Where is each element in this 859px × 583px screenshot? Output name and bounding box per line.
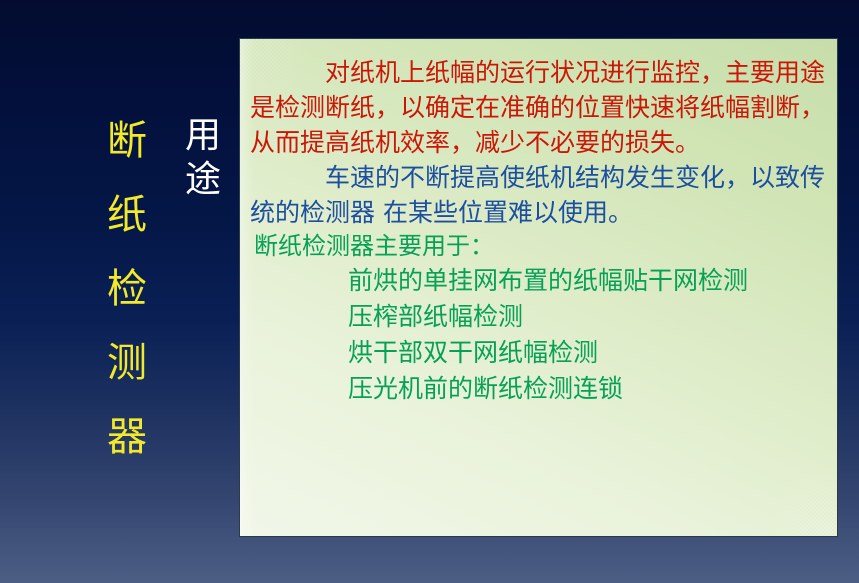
list-item: 烘干部双干网纸幅检测 bbox=[250, 335, 831, 371]
vertical-title-char-5: 器 bbox=[107, 400, 147, 474]
vertical-subtitle-char-2: 途 bbox=[185, 158, 221, 202]
list-item: 压榨部纸幅检测 bbox=[250, 299, 831, 335]
vertical-title-char-4: 测 bbox=[107, 326, 147, 400]
vertical-subtitle: 用 途 bbox=[174, 114, 232, 202]
vertical-subtitle-char-1: 用 bbox=[185, 114, 221, 158]
vertical-title: 断 纸 检 测 器 bbox=[96, 104, 158, 474]
list-item: 前烘的单挂网布置的纸幅贴干网检测 bbox=[250, 263, 831, 299]
content-panel: 对纸机上纸幅的运行状况进行监控，主要用途是检测断纸，以确定在准确的位置快速将纸幅… bbox=[239, 38, 838, 537]
content-text-block: 对纸机上纸幅的运行状况进行监控，主要用途是检测断纸，以确定在准确的位置快速将纸幅… bbox=[240, 39, 837, 407]
vertical-title-char-3: 检 bbox=[107, 252, 147, 326]
list-item: 压光机前的断纸检测连锁 bbox=[250, 371, 831, 407]
green-item-list: 前烘的单挂网布置的纸幅贴干网检测 压榨部纸幅检测 烘干部双干网纸幅检测 压光机前… bbox=[250, 263, 831, 407]
slide-canvas: 断 纸 检 测 器 用 途 对纸机上纸幅的运行状况进行监控，主要用途是检测断纸，… bbox=[0, 0, 859, 583]
vertical-title-char-1: 断 bbox=[107, 104, 147, 178]
paragraph-blue: 车速的不断提高使纸机结构发生变化，以致传统的检测器 在某些位置难以使用。 bbox=[250, 160, 831, 230]
vertical-title-char-2: 纸 bbox=[107, 178, 147, 252]
paragraph-red: 对纸机上纸幅的运行状况进行监控，主要用途是检测断纸，以确定在准确的位置快速将纸幅… bbox=[250, 55, 831, 160]
green-heading: 断纸检测器主要用于： bbox=[250, 230, 831, 263]
